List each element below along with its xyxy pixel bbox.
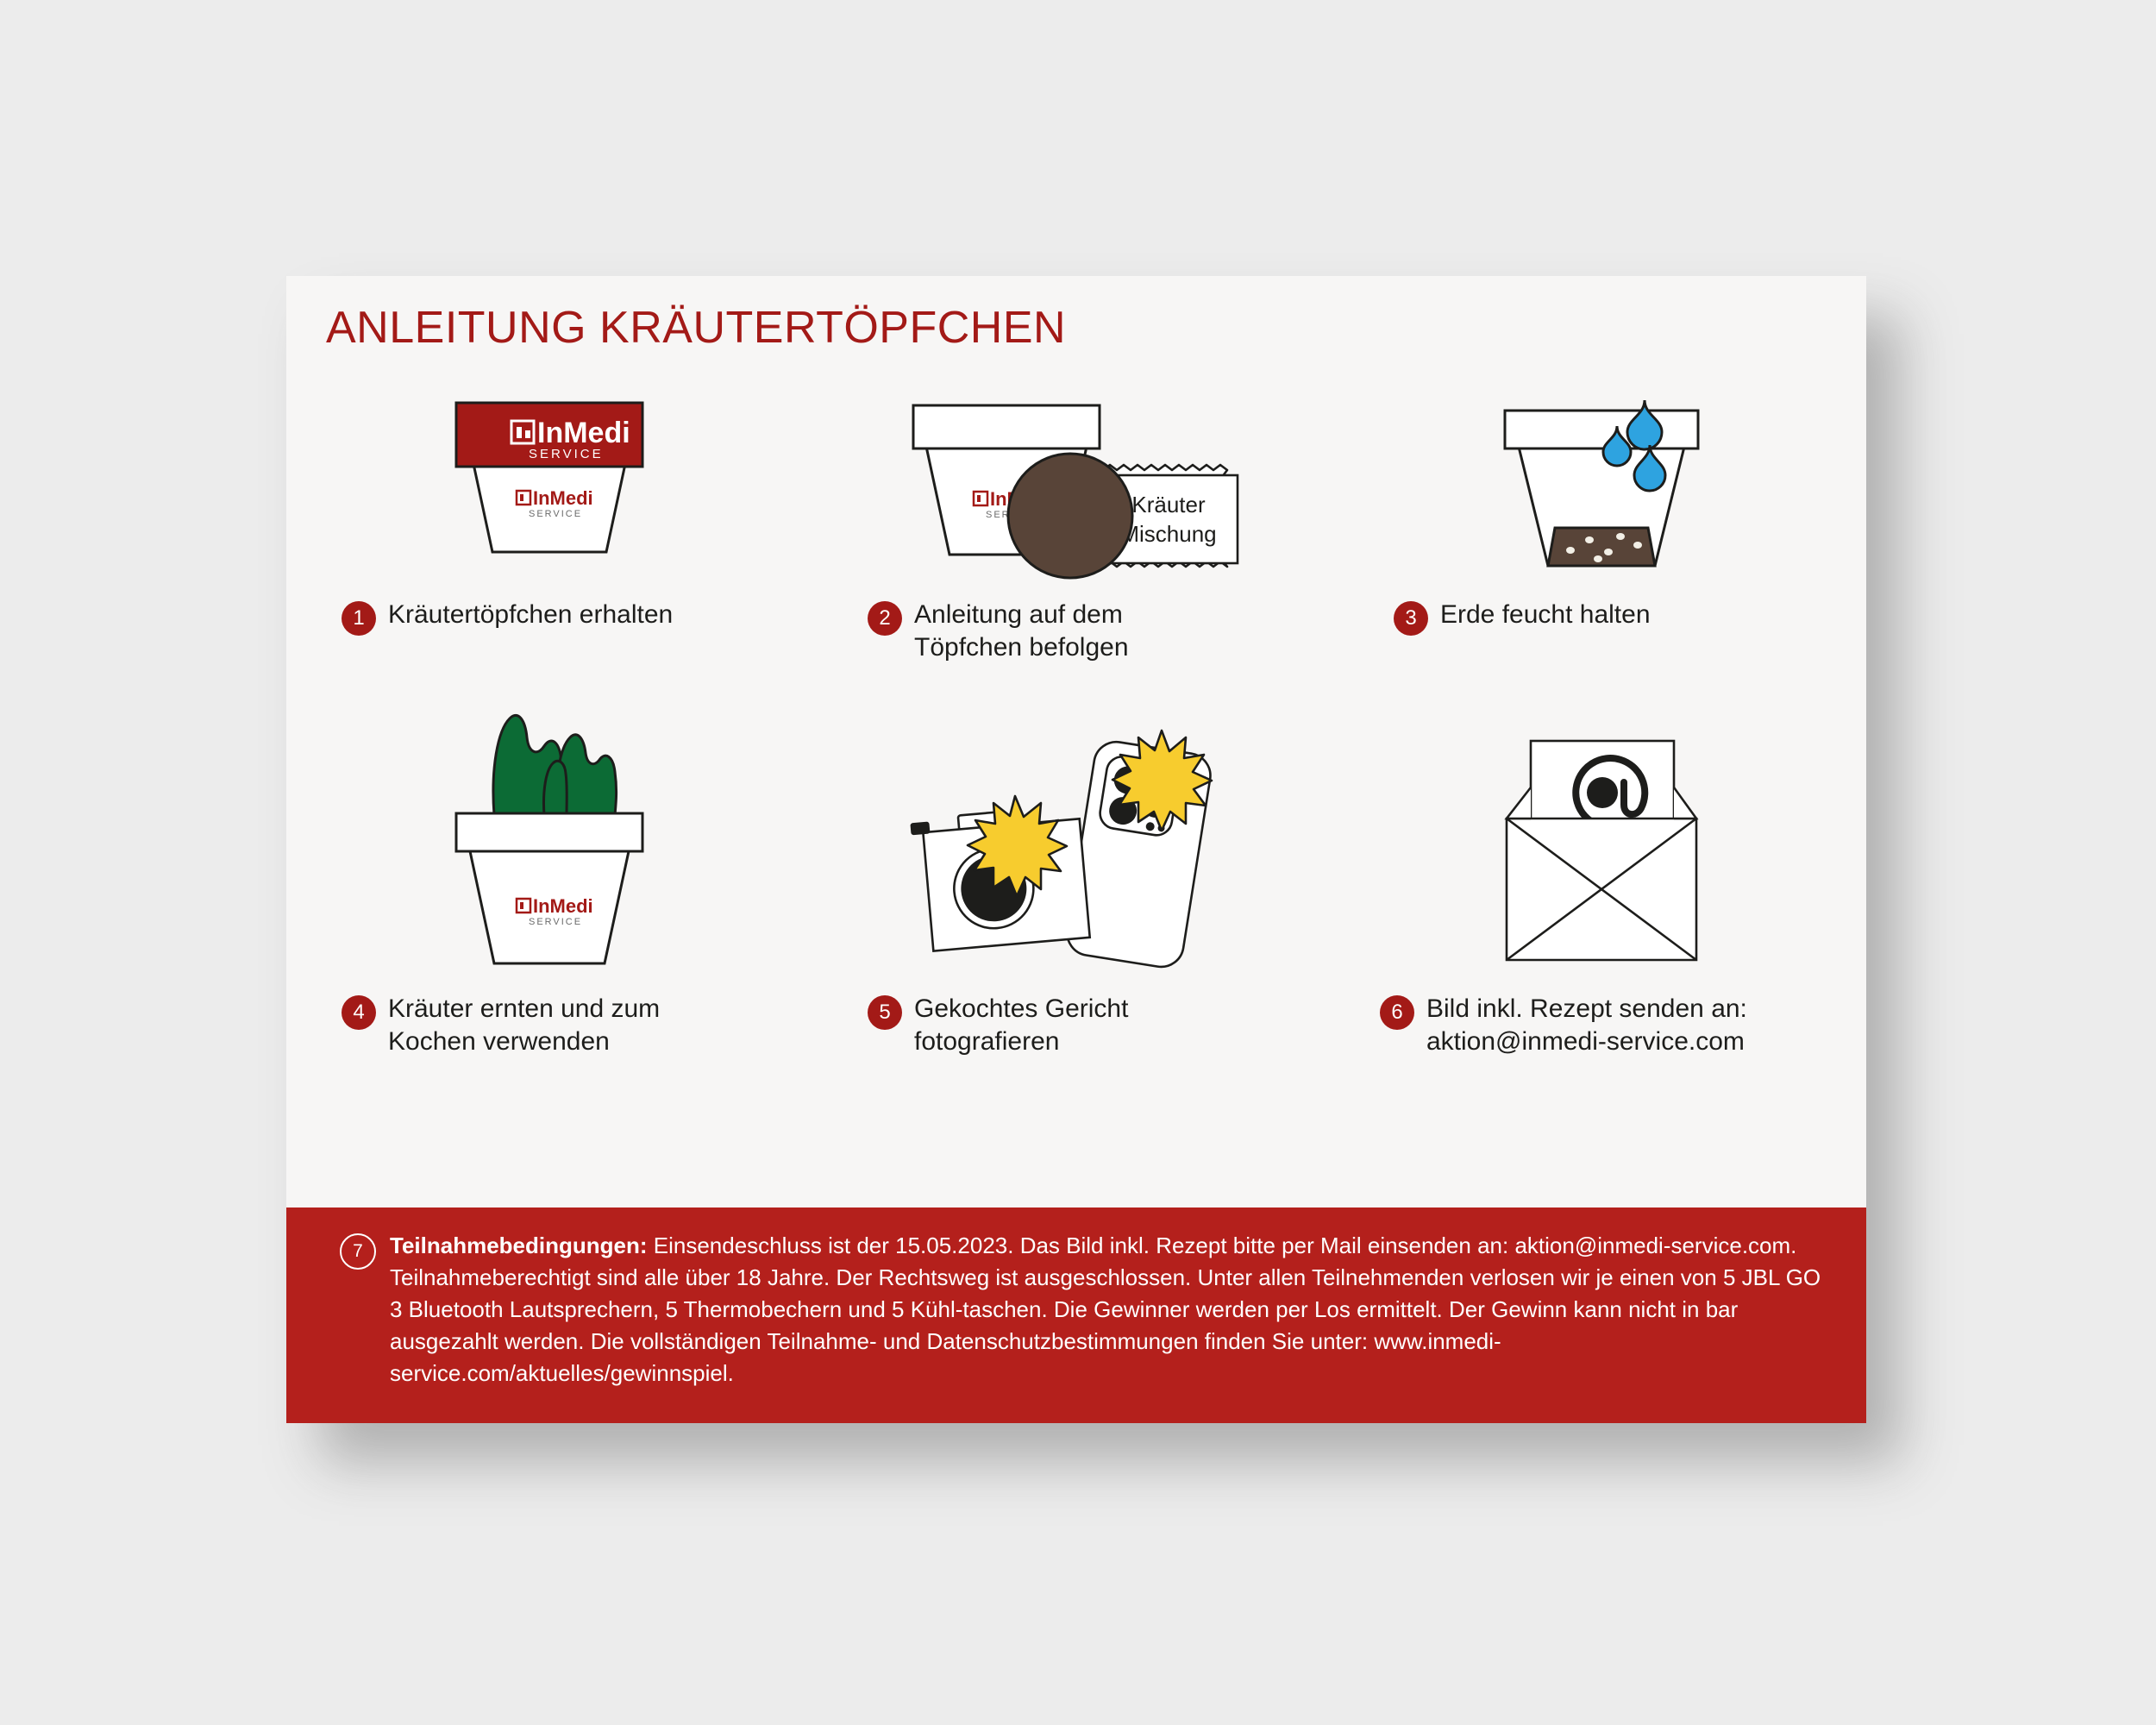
packet-label-line-2: Mischung xyxy=(1120,521,1216,547)
pot-soil-seed-packet-icon: InMedi SERVICE Kräuter Mischung xyxy=(894,401,1257,586)
open-envelope-at-icon xyxy=(1481,722,1722,981)
step-1-caption: 1 Kräutertöpfchen erhalten xyxy=(286,599,812,636)
step-2: InMedi SERVICE Kräuter Mischung xyxy=(812,371,1338,665)
steps-row-1: InMedi SERVICE InMedi SERVICE xyxy=(286,371,1866,665)
step-6: 6 Bild inkl. Rezept senden an: aktion@in… xyxy=(1338,705,1865,1059)
step-1-label: Kräutertöpfchen erhalten xyxy=(388,599,673,631)
pot-with-herbs-icon: InMedi SERVICE xyxy=(437,705,661,981)
step-5-number: 5 xyxy=(868,995,902,1030)
water-drop-icon xyxy=(1627,400,1662,449)
step-5: 5 Gekochtes Gericht fotografieren xyxy=(812,705,1338,1059)
screenshot-stage: ANLEITUNG KRÄUTERTÖPFCHEN xyxy=(0,0,2156,1725)
step-6-art xyxy=(1338,705,1865,981)
step-2-label: Anleitung auf dem Töpfchen befolgen xyxy=(914,599,1129,665)
step-1: InMedi SERVICE InMedi SERVICE xyxy=(286,371,812,665)
terms-heading: Teilnahmebedingungen: xyxy=(390,1233,648,1258)
svg-text:SERVICE: SERVICE xyxy=(529,447,604,461)
terms-number: 7 xyxy=(340,1233,376,1270)
step-4-art: InMedi SERVICE xyxy=(286,705,812,981)
svg-text:InMedi: InMedi xyxy=(537,417,630,449)
step-3-number: 3 xyxy=(1394,601,1428,636)
step-2-art: InMedi SERVICE Kräuter Mischung xyxy=(812,371,1338,586)
step-4-number: 4 xyxy=(342,995,376,1030)
svg-text:InMedi: InMedi xyxy=(533,895,593,917)
svg-text:InMedi: InMedi xyxy=(533,487,593,509)
step-6-caption: 6 Bild inkl. Rezept senden an: aktion@in… xyxy=(1338,993,1865,1059)
step-4: InMedi SERVICE 4 Kräuter ernten und zum … xyxy=(286,705,812,1059)
step-2-number: 2 xyxy=(868,601,902,636)
step-2-caption: 2 Anleitung auf dem Töpfchen befolgen xyxy=(812,599,1338,665)
step-3-caption: 3 Erde feucht halten xyxy=(1338,599,1865,636)
packet-label-line-1: Kräuter xyxy=(1131,492,1206,517)
step-3: 3 Erde feucht halten xyxy=(1338,371,1865,665)
svg-text:SERVICE: SERVICE xyxy=(529,509,582,519)
terms-text: Teilnahmebedingungen: Einsendeschluss is… xyxy=(390,1230,1825,1389)
step-3-art xyxy=(1338,371,1865,586)
soil-ball-icon xyxy=(1008,454,1132,578)
step-1-art: InMedi SERVICE InMedi SERVICE xyxy=(286,371,812,586)
step-3-label: Erde feucht halten xyxy=(1440,599,1651,631)
camera-and-phone-icon xyxy=(912,722,1239,981)
svg-text:SERVICE: SERVICE xyxy=(529,917,582,927)
steps-grid: InMedi SERVICE InMedi SERVICE xyxy=(286,371,1866,1059)
herb-leaves-icon xyxy=(493,715,617,815)
step-4-caption: 4 Kräuter ernten und zum Kochen verwende… xyxy=(286,993,812,1059)
page-title: ANLEITUNG KRÄUTERTÖPFCHEN xyxy=(326,302,1066,354)
step-6-number: 6 xyxy=(1380,995,1414,1030)
step-1-number: 1 xyxy=(342,601,376,636)
terms-footer: 7 Teilnahmebedingungen: Einsendeschluss … xyxy=(286,1207,1866,1423)
step-6-label: Bild inkl. Rezept senden an: aktion@inme… xyxy=(1426,993,1747,1059)
step-5-caption: 5 Gekochtes Gericht fotografieren xyxy=(812,993,1338,1059)
herb-pot-with-label-icon: InMedi SERVICE InMedi SERVICE xyxy=(437,401,661,586)
step-4-label: Kräuter ernten und zum Kochen verwenden xyxy=(388,993,660,1059)
steps-row-2: InMedi SERVICE 4 Kräuter ernten und zum … xyxy=(286,705,1866,1059)
instruction-card: ANLEITUNG KRÄUTERTÖPFCHEN xyxy=(286,276,1866,1423)
pot-with-water-drops-icon xyxy=(1481,397,1722,586)
step-5-label: Gekochtes Gericht fotografieren xyxy=(914,993,1128,1059)
step-5-art xyxy=(812,705,1338,981)
